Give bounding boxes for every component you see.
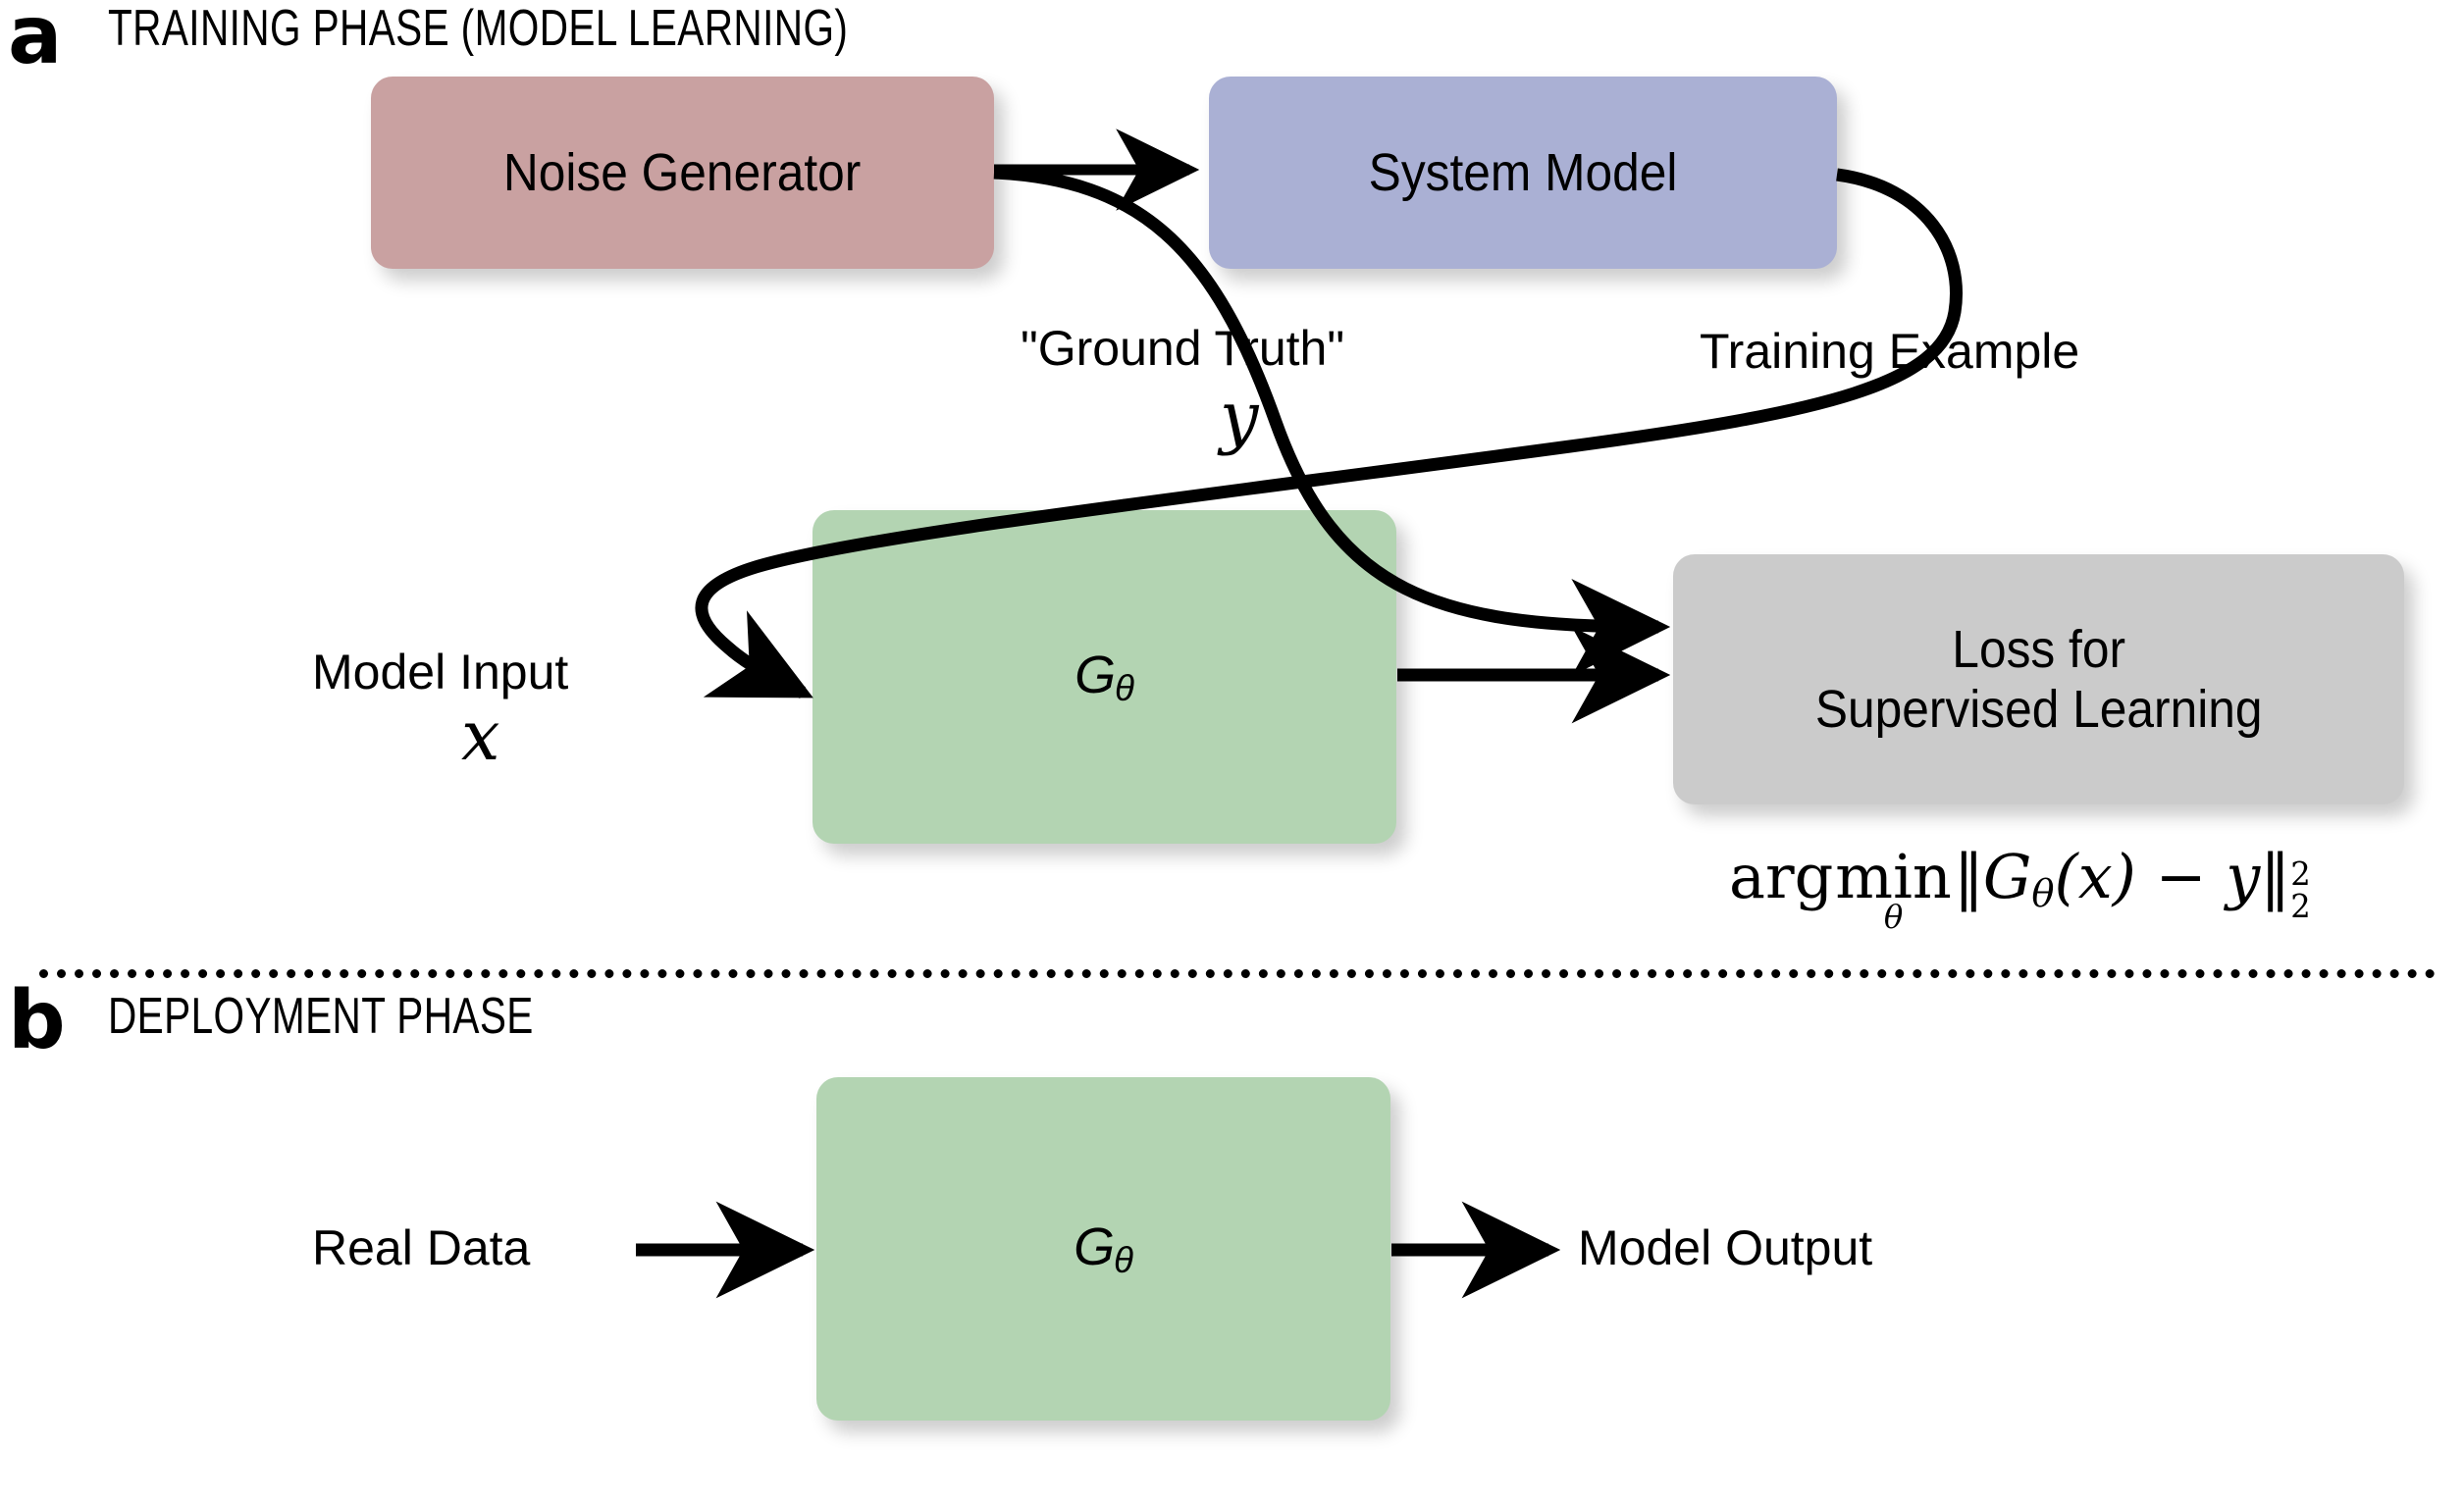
formula-y: y (2226, 841, 2260, 912)
node-loss-label: Loss for Supervised Learning (1799, 620, 2279, 739)
formula-minus: − (2156, 841, 2207, 912)
node-noise-generator-label: Noise Generator (488, 143, 878, 202)
edge-label-real-data: Real Data (312, 1223, 530, 1272)
loss-objective-formula: argminθ‖Gθ(x) − y‖22 (1729, 847, 2311, 936)
edge-label-training-example: Training Example (1700, 327, 2079, 376)
edge-label-ground-truth: "Ground Truth" (1021, 324, 1344, 373)
edge-symbol-y: y (1220, 383, 1259, 451)
generator-deployment-subscript-theta: θ (1114, 1240, 1133, 1280)
node-generator-training-label: Gθ (1057, 646, 1152, 708)
panel-a-title: TRAINING PHASE (MODEL LEARNING) (108, 3, 848, 54)
node-system-model[interactable]: System Model (1209, 77, 1837, 269)
section-divider (39, 969, 2436, 978)
node-system-model-label: System Model (1352, 143, 1694, 202)
node-noise-generator[interactable]: Noise Generator (371, 77, 994, 269)
node-generator-deployment[interactable]: Gθ (816, 1077, 1390, 1421)
panel-b-title: DEPLOYMENT PHASE (108, 991, 534, 1042)
formula-min-stack: minθ (1835, 847, 1952, 933)
formula-norm-open: ‖ (1954, 841, 1983, 912)
formula-exponent: 2 (2290, 858, 2311, 891)
formula-arg: arg (1729, 841, 1833, 912)
edge-label-model-output: Model Output (1578, 1223, 1872, 1272)
formula-g: G (1983, 841, 2032, 912)
formula-min-subscript: θ (1884, 902, 1903, 933)
formula-norm-exponents: 22 (2290, 858, 2311, 923)
diagram-canvas: a TRAINING PHASE (MODEL LEARNING) Noise … (0, 0, 2464, 1501)
edge-label-model-input: Model Input (312, 647, 568, 697)
formula-norm-index: 2 (2290, 891, 2311, 923)
formula-norm-close: ‖ (2260, 841, 2289, 912)
panel-letter-a: a (8, 0, 62, 77)
generator-subscript-theta: θ (1115, 668, 1134, 708)
formula-g-subscript: θ (2031, 871, 2054, 915)
formula-of-x: (x) (2055, 841, 2136, 912)
node-generator-training[interactable]: Gθ (813, 510, 1396, 844)
edge-symbol-x: x (461, 701, 499, 770)
panel-letter-b: b (8, 981, 66, 1061)
node-generator-deployment-label: Gθ (1056, 1217, 1151, 1280)
node-loss[interactable]: Loss for Supervised Learning (1673, 554, 2404, 804)
